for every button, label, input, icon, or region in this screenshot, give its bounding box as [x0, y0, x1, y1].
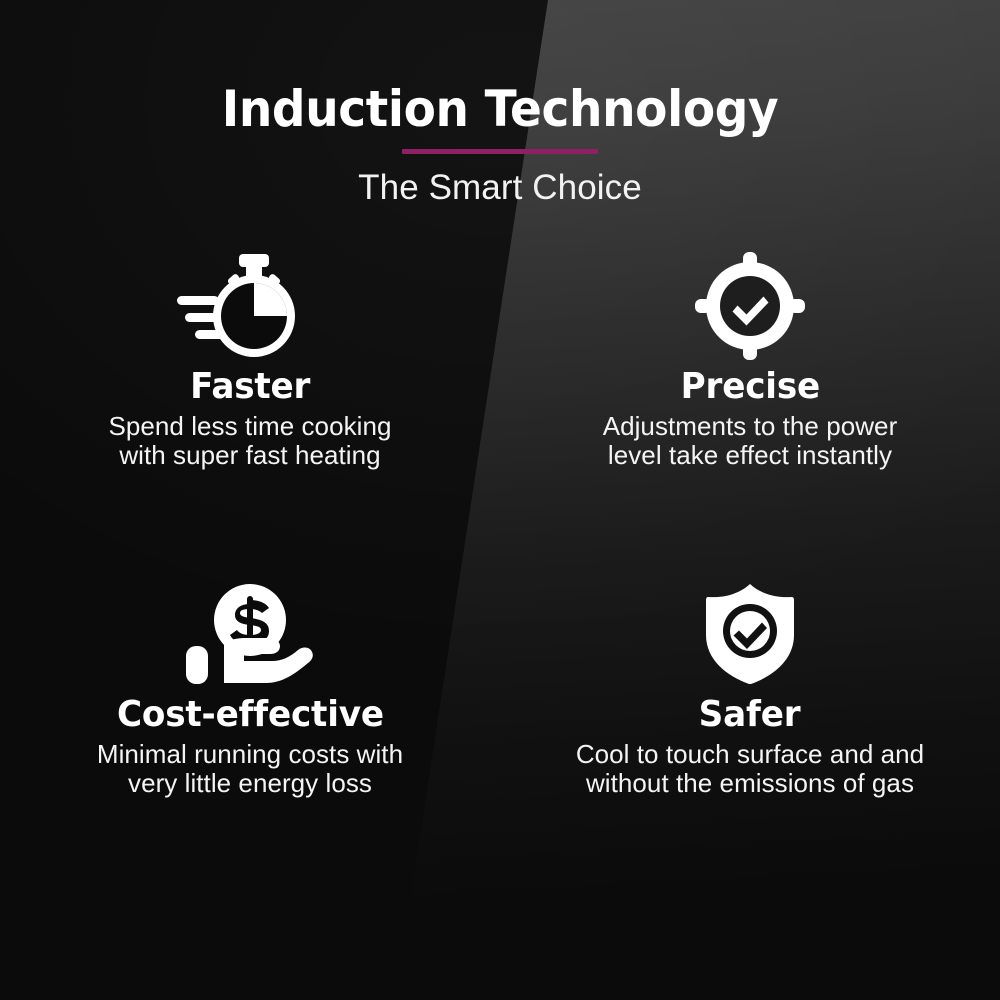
- feature-title: Faster: [190, 368, 310, 406]
- infographic-poster: Induction Technology The Smart Choice: [0, 0, 1000, 1000]
- feature-description: Cool to touch surface and and without th…: [576, 740, 924, 798]
- poster-header: Induction Technology The Smart Choice: [0, 0, 1000, 208]
- feature-card-precise: Precise Adjustments to the power level t…: [500, 252, 1000, 582]
- stopwatch-speed-icon: [175, 252, 325, 360]
- feature-description-line-2: without the emissions of gas: [576, 769, 924, 798]
- page-subtitle: The Smart Choice: [0, 160, 1000, 208]
- feature-title: Precise: [680, 368, 819, 406]
- feature-description: Minimal running costs with very little e…: [97, 740, 403, 798]
- feature-description-line-2: with super fast heating: [109, 441, 392, 470]
- feature-description-line-2: very little energy loss: [97, 769, 403, 798]
- feature-card-faster: Faster Spend less time cooking with supe…: [0, 252, 500, 582]
- feature-description-line-1: Adjustments to the power: [603, 412, 898, 441]
- shield-check-icon: [702, 582, 798, 686]
- feature-description-line-1: Spend less time cooking: [109, 412, 392, 441]
- feature-description: Adjustments to the power level take effe…: [603, 412, 898, 470]
- feature-title: Cost-effective: [117, 696, 384, 734]
- feature-description-line-1: Cool to touch surface and and: [576, 740, 924, 769]
- feature-grid: Faster Spend less time cooking with supe…: [0, 252, 1000, 912]
- crosshair-check-icon: [695, 252, 805, 360]
- page-title: Induction Technology: [30, 0, 970, 134]
- feature-description-line-1: Minimal running costs with: [97, 740, 403, 769]
- feature-card-cost-effective: Cost-effective Minimal running costs wit…: [0, 582, 500, 912]
- feature-description: Spend less time cooking with super fast …: [109, 412, 392, 470]
- hand-coin-dollar-icon: [184, 582, 316, 686]
- title-divider: [402, 149, 598, 154]
- feature-card-safer: Safer Cool to touch surface and and with…: [500, 582, 1000, 912]
- feature-description-line-2: level take effect instantly: [603, 441, 898, 470]
- feature-title: Safer: [699, 696, 801, 734]
